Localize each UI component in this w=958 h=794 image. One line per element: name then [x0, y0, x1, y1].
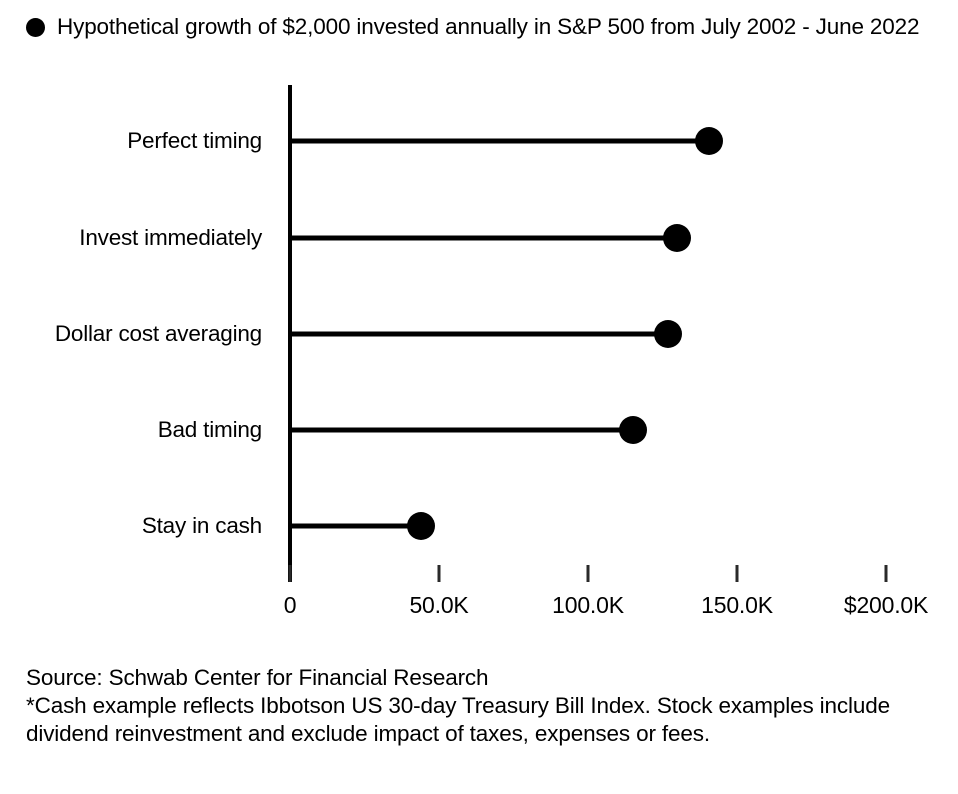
data-stem — [290, 428, 633, 433]
x-axis-tick-label: 50.0K — [409, 594, 468, 617]
x-axis-tick-label: 0 — [284, 594, 297, 617]
data-point-marker[interactable] — [663, 224, 691, 252]
data-point-marker[interactable] — [619, 416, 647, 444]
category-label: Perfect timing — [127, 130, 262, 153]
category-label: Dollar cost averaging — [55, 323, 262, 346]
category-label: Bad timing — [158, 419, 262, 442]
x-axis-tick-mark — [587, 565, 590, 582]
data-point-marker[interactable] — [695, 127, 723, 155]
x-axis-tick-mark — [438, 565, 441, 582]
data-stem — [290, 332, 668, 337]
x-axis-tick-mark — [289, 565, 292, 582]
category-label: Invest immediately — [79, 227, 262, 250]
data-stem — [290, 139, 709, 144]
x-axis-tick-label: $200.0K — [844, 594, 928, 617]
x-axis-tick-label: 100.0K — [552, 594, 624, 617]
footnote: Source: Schwab Center for Financial Rese… — [26, 664, 926, 748]
x-axis-tick-mark — [885, 565, 888, 582]
x-axis-tick-label: 150.0K — [701, 594, 773, 617]
data-stem — [290, 524, 421, 529]
category-label: Stay in cash — [142, 515, 262, 538]
data-stem — [290, 236, 677, 241]
data-point-marker[interactable] — [407, 512, 435, 540]
lollipop-chart: Perfect timingInvest immediatelyDollar c… — [0, 0, 958, 660]
footnote-note: *Cash example reflects Ibbotson US 30-da… — [26, 692, 926, 748]
footnote-source: Source: Schwab Center for Financial Rese… — [26, 664, 926, 692]
x-axis-tick-mark — [736, 565, 739, 582]
data-point-marker[interactable] — [654, 320, 682, 348]
